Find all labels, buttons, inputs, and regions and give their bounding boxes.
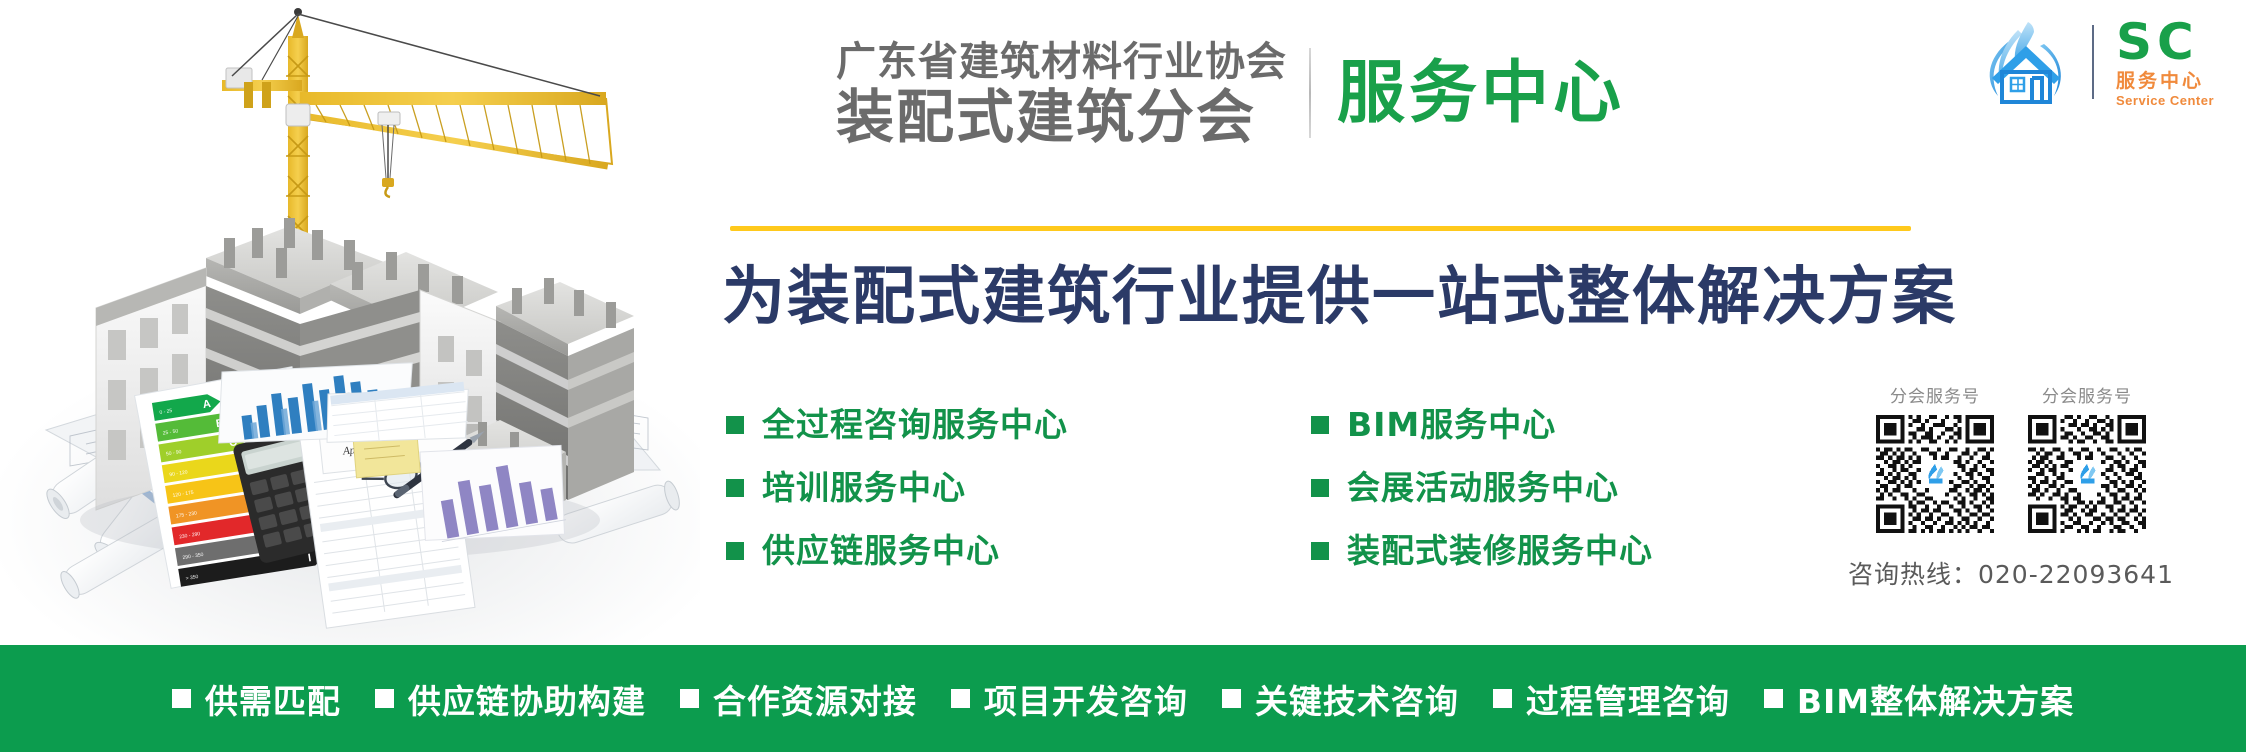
page-title: 为装配式建筑行业提供一站式整体解决方案 [722, 258, 1957, 337]
logo-en-text: Service Center [2116, 94, 2214, 107]
list-item[interactable]: 培训服务中心 [726, 471, 1311, 504]
list-item-label: 装配式装修服务中心 [1347, 534, 1653, 567]
association-name: 广东省建筑材料行业协会 装配式建筑分会 [836, 42, 1309, 146]
logo-wordmark: SC 服务中心 Service Center [2116, 17, 2214, 107]
square-bullet-icon [951, 689, 970, 708]
qr-code-icon[interactable] [1876, 415, 1994, 533]
association-line-2: 装配式建筑分会 [836, 88, 1287, 146]
hotline-text: 咨询热线：020-22093641 [1848, 555, 2174, 591]
brand-logo[interactable]: SC 服务中心 Service Center [1978, 16, 2214, 108]
qr-cell[interactable]: 分会服务号 [1876, 382, 1994, 533]
service-center-title: 服务中心 [1337, 60, 1625, 128]
footer-item[interactable]: 供应链协助构建 [375, 675, 646, 723]
footer-item[interactable]: BIM整体解决方案 [1764, 675, 2074, 723]
list-item-label: 全过程咨询服务中心 [762, 408, 1068, 441]
qr-code-icon[interactable] [2028, 415, 2146, 533]
association-line-1: 广东省建筑材料行业协会 [836, 42, 1287, 82]
square-bullet-icon [726, 416, 744, 434]
square-bullet-icon [375, 689, 394, 708]
service-center-list: 全过程咨询服务中心 培训服务中心 供应链服务中心 BIM服务中心 会展活动服务中… [726, 408, 1653, 567]
footer-item-label: 供应链协助构建 [408, 675, 646, 723]
square-bullet-icon [726, 542, 744, 560]
promo-banner: ABC DEF GHI 0 - 2525 - 5050 - 90 90 - 12… [0, 0, 2246, 752]
logo-divider [2092, 25, 2094, 99]
gold-divider-rule [730, 226, 1911, 231]
list-item[interactable]: 装配式装修服务中心 [1311, 534, 1653, 567]
service-column-right: BIM服务中心 会展活动服务中心 装配式装修服务中心 [1311, 408, 1653, 567]
logo-sc-text: SC [2116, 17, 2199, 67]
footer-item[interactable]: 合作资源对接 [680, 675, 917, 723]
footer-item[interactable]: 项目开发咨询 [951, 675, 1188, 723]
square-bullet-icon [172, 689, 191, 708]
footer-item-label: 项目开发咨询 [984, 675, 1188, 723]
logo-cn-text: 服务中心 [2116, 72, 2204, 91]
square-bullet-icon [1493, 689, 1512, 708]
list-item-label: 供应链服务中心 [762, 534, 1000, 567]
footer-item-label: 合作资源对接 [713, 675, 917, 723]
footer-item[interactable]: 供需匹配 [172, 675, 341, 723]
qr-caption: 分会服务号 [1890, 382, 1980, 407]
footer-item-label: 供需匹配 [205, 675, 341, 723]
qr-contact-block: 分会服务号 [1848, 382, 2174, 591]
masthead: 广东省建筑材料行业协会 装配式建筑分会 服务中心 [836, 42, 1625, 146]
square-bullet-icon [680, 689, 699, 708]
footer-item[interactable]: 关键技术咨询 [1222, 675, 1459, 723]
square-bullet-icon [1222, 689, 1241, 708]
square-bullet-icon [1311, 542, 1329, 560]
list-item[interactable]: BIM服务中心 [1311, 408, 1653, 441]
square-bullet-icon [726, 479, 744, 497]
list-item[interactable]: 会展活动服务中心 [1311, 471, 1653, 504]
square-bullet-icon [1764, 689, 1783, 708]
flame-house-icon [1978, 16, 2074, 108]
footer-item[interactable]: 过程管理咨询 [1493, 675, 1730, 723]
qr-row: 分会服务号 [1876, 382, 2146, 533]
construction-site-illustration: ABC DEF GHI 0 - 2525 - 5050 - 90 90 - 12… [0, 0, 700, 648]
qr-caption: 分会服务号 [2042, 382, 2132, 407]
masthead-divider [1309, 48, 1311, 138]
service-column-left: 全过程咨询服务中心 培训服务中心 供应链服务中心 [726, 408, 1311, 567]
footer-item-label: 过程管理咨询 [1526, 675, 1730, 723]
list-item-label: 会展活动服务中心 [1347, 471, 1619, 504]
square-bullet-icon [1311, 416, 1329, 434]
list-item[interactable]: 供应链服务中心 [726, 534, 1311, 567]
list-item-label: 培训服务中心 [762, 471, 966, 504]
square-bullet-icon [1311, 479, 1329, 497]
list-item-label: BIM服务中心 [1347, 408, 1556, 441]
qr-cell[interactable]: 分会服务号 [2028, 382, 2146, 533]
footer-service-bar: 供需匹配 供应链协助构建 合作资源对接 项目开发咨询 关键技术咨询 过程管理咨询… [0, 645, 2246, 752]
list-item[interactable]: 全过程咨询服务中心 [726, 408, 1311, 441]
footer-item-label: 关键技术咨询 [1255, 675, 1459, 723]
footer-item-label: BIM整体解决方案 [1797, 675, 2074, 723]
